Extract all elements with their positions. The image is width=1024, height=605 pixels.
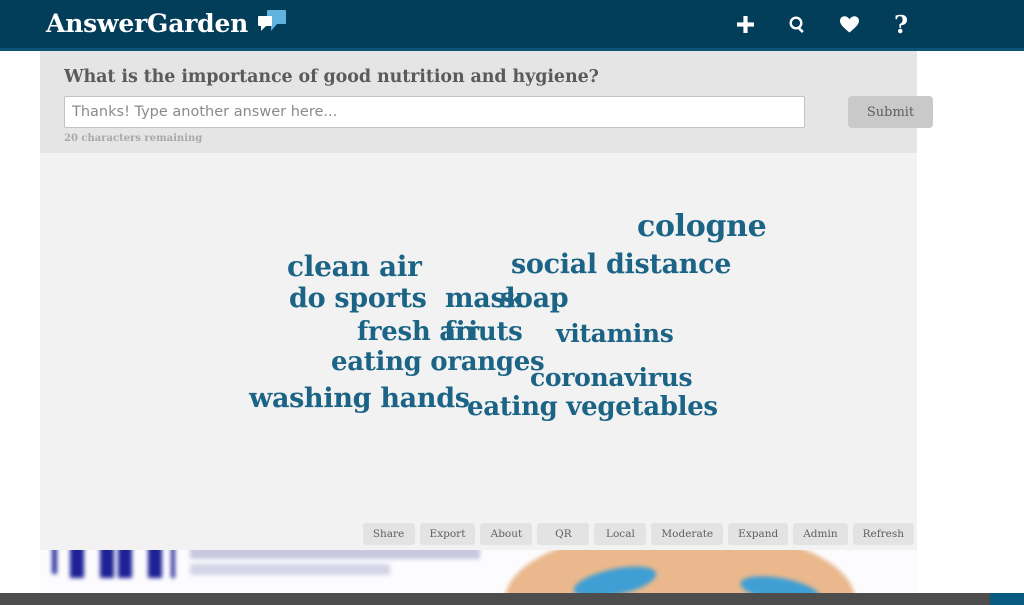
expand-button[interactable]: Expand (728, 523, 788, 545)
horizontal-scrollbar-track[interactable] (0, 593, 1024, 605)
word-cloud-term[interactable]: clean air (287, 253, 422, 281)
word-cloud-term[interactable]: do sports (289, 285, 427, 312)
word-cloud-term[interactable]: eating oranges (331, 349, 544, 375)
qr-button[interactable]: QR (537, 523, 589, 545)
word-cloud-term[interactable]: vitamins (556, 321, 674, 346)
admin-button[interactable]: Admin (793, 523, 847, 545)
answer-input[interactable] (64, 96, 805, 128)
export-button[interactable]: Export (420, 523, 476, 545)
word-cloud-term[interactable]: coronavirus (530, 365, 692, 390)
word-cloud-term[interactable]: friuts (444, 319, 523, 345)
search-icon[interactable] (782, 9, 812, 39)
page-content-below-fold (40, 550, 917, 593)
about-button[interactable]: About (480, 523, 532, 545)
word-cloud-term[interactable]: soap (500, 285, 568, 312)
horizontal-scrollbar-thumb[interactable] (990, 593, 1024, 605)
word-cloud: colognesocial distanceclean airdo sports… (40, 153, 917, 517)
refresh-button[interactable]: Refresh (853, 523, 914, 545)
question-panel: What is the importance of good nutrition… (40, 51, 917, 153)
word-cloud-term[interactable]: washing hands (249, 385, 470, 412)
action-button-bar: ShareExportAboutQRLocalModerateExpandAdm… (40, 517, 917, 550)
help-icon[interactable]: ? (886, 9, 916, 39)
nav-icon-group: ? (730, 0, 916, 48)
question-text: What is the importance of good nutrition… (64, 67, 599, 87)
local-button[interactable]: Local (594, 523, 646, 545)
answergarden-page: AnswerGarden (0, 0, 1024, 605)
speech-bubbles-icon (258, 10, 286, 37)
plus-icon[interactable] (730, 9, 760, 39)
submit-button[interactable]: Submit (848, 96, 933, 128)
characters-remaining-label: 20 characters remaining (64, 133, 202, 144)
top-navigation-bar: AnswerGarden (0, 0, 1024, 51)
heart-icon[interactable] (834, 9, 864, 39)
brand-name: AnswerGarden (46, 11, 248, 36)
word-cloud-term[interactable]: cologne (637, 212, 766, 242)
word-cloud-term[interactable]: eating vegetables (467, 394, 718, 420)
word-cloud-term[interactable]: social distance (511, 251, 731, 278)
share-button[interactable]: Share (363, 523, 415, 545)
brand-logo-link[interactable]: AnswerGarden (46, 10, 286, 37)
moderate-button[interactable]: Moderate (651, 523, 723, 545)
partial-slide-image (40, 550, 917, 593)
